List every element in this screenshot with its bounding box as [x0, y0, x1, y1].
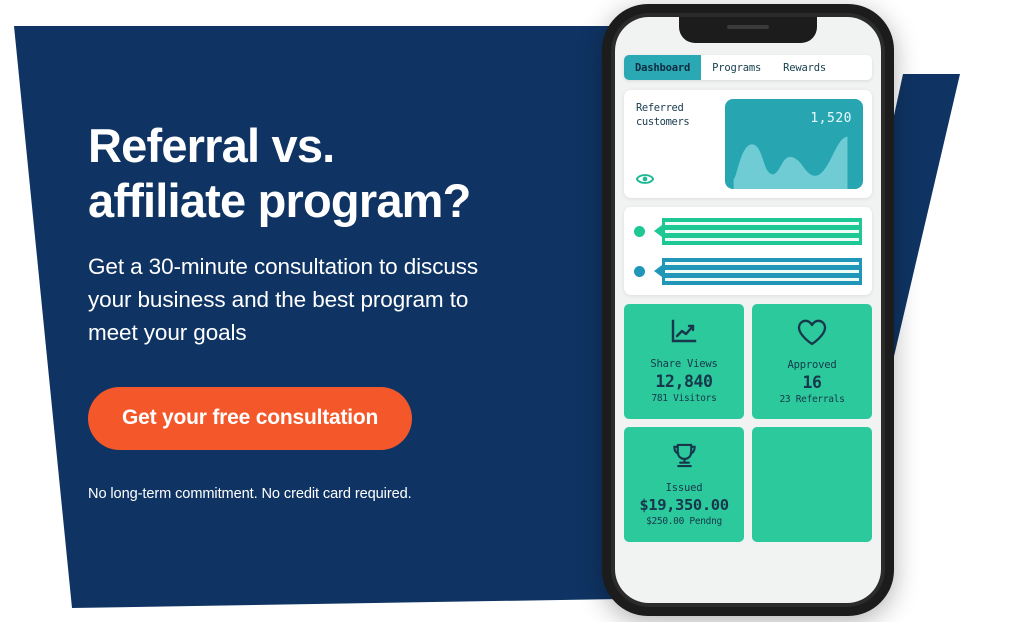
area-chart-svg	[725, 131, 863, 189]
status-dot-icon	[634, 226, 645, 237]
stat-sublabel: 23 Referrals	[779, 394, 844, 405]
status-dot-icon	[634, 266, 645, 277]
stat-label: Approved	[788, 359, 837, 371]
placeholder-bubble	[654, 258, 862, 285]
bubble-bars	[662, 218, 862, 245]
stat-label: Issued	[666, 482, 703, 494]
bubble-bars	[662, 258, 862, 285]
stat-label: Share Views	[650, 358, 717, 370]
stat-value: $19,350.00	[639, 496, 728, 514]
stat-card-issued[interactable]: Issued $19,350.00 $250.00 Pendng	[624, 427, 744, 542]
app-tabbar: Dashboard Programs Rewards	[624, 55, 872, 80]
referred-chart-value: 1,520	[810, 111, 852, 126]
phone-bezel: Dashboard Programs Rewards Referred cust…	[611, 13, 885, 607]
speaker-grille-icon	[727, 25, 769, 29]
tab-rewards[interactable]: Rewards	[772, 55, 837, 80]
stat-card-approved[interactable]: Approved 16 23 Referrals	[752, 304, 872, 419]
placeholder-bubble	[654, 218, 862, 245]
hero-banner: Referral vs. affiliate program? Get a 30…	[0, 0, 1024, 622]
eye-icon[interactable]	[636, 172, 654, 186]
get-consultation-button[interactable]: Get your free consultation	[88, 387, 412, 450]
stat-sublabel: $250.00 Pendng	[646, 516, 722, 527]
hero-content: Referral vs. affiliate program? Get a 30…	[88, 118, 558, 502]
tab-programs[interactable]: Programs	[701, 55, 772, 80]
stat-card-grid: Share Views 12,840 781 Visitors Approved	[624, 304, 872, 542]
page-title: Referral vs. affiliate program?	[88, 118, 558, 229]
list-item[interactable]	[634, 218, 862, 245]
referral-list-card	[624, 207, 872, 295]
line-chart-icon	[670, 319, 698, 349]
phone-notch	[679, 17, 817, 43]
stat-value: 16	[802, 373, 821, 392]
list-item[interactable]	[634, 258, 862, 285]
stat-card-empty[interactable]	[752, 427, 872, 542]
phone-screen: Dashboard Programs Rewards Referred cust…	[615, 17, 881, 603]
app-body: Dashboard Programs Rewards Referred cust…	[615, 55, 881, 603]
bubble-tail-icon	[654, 225, 662, 237]
bubble-tail-icon	[654, 265, 662, 277]
stat-card-share-views[interactable]: Share Views 12,840 781 Visitors	[624, 304, 744, 419]
trophy-icon	[671, 442, 698, 473]
referred-customers-card: Referred customers 1,520	[624, 90, 872, 198]
hero-fineprint: No long-term commitment. No credit card …	[88, 486, 558, 502]
referred-chart: 1,520	[725, 99, 863, 189]
stat-value: 12,840	[655, 372, 712, 391]
stat-sublabel: 781 Visitors	[651, 393, 716, 404]
phone-mockup: Dashboard Programs Rewards Referred cust…	[602, 4, 894, 616]
referred-card-left: Referred customers	[633, 99, 717, 189]
hero-subheading: Get a 30-minute consultation to discuss …	[88, 251, 558, 350]
heart-icon	[797, 319, 827, 350]
tab-dashboard[interactable]: Dashboard	[624, 55, 701, 80]
referred-customers-label: Referred customers	[636, 102, 717, 130]
